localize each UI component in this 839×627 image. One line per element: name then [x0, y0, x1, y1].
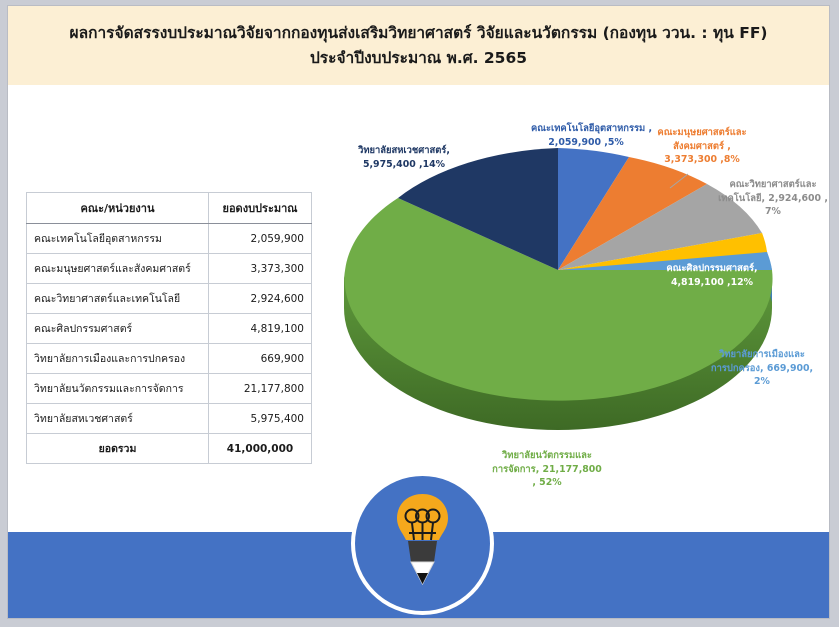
- pie-label-line1: คณะวิทยาศาสตร์และ: [714, 178, 829, 192]
- organization-logo: [355, 476, 490, 611]
- cell-amount: 21,177,800: [209, 374, 312, 404]
- cell-amount: 3,373,300: [209, 254, 312, 284]
- pie-label-line2: เทคโนโลยี, 2,924,600 ,: [714, 192, 829, 206]
- table-row: วิทยาลัยการเมืองและการปกครอง 669,900: [27, 344, 312, 374]
- table-row: คณะมนุษยศาสตร์และสังคมศาสตร์ 3,373,300: [27, 254, 312, 284]
- cell-unit-name: คณะศิลปกรรมศาสตร์: [27, 314, 209, 344]
- table-row: วิทยาลัยนวัตกรรมและการจัดการ 21,177,800: [27, 374, 312, 404]
- cell-unit-name: คณะวิทยาศาสตร์และเทคโนโลยี: [27, 284, 209, 314]
- pie-label-line1: คณะเทคโนโลยีอุตสาหกรรม ,: [531, 122, 641, 136]
- cell-total-amount: 41,000,000: [209, 434, 312, 464]
- table-row: คณะศิลปกรรมศาสตร์ 4,819,100: [27, 314, 312, 344]
- cell-unit-name: คณะเทคโนโลยีอุตสาหกรรม: [27, 224, 209, 254]
- table-row: วิทยาลัยสหเวชศาสตร์ 5,975,400: [27, 404, 312, 434]
- page-title-line2: ประจำปีงบประมาณ พ.ศ. 2565: [70, 46, 768, 70]
- table-row: คณะเทคโนโลยีอุตสาหกรรม 2,059,900: [27, 224, 312, 254]
- pie-label-line3: , 52%: [477, 476, 617, 490]
- pie-label-allied-health-sciences: วิทยาลัยสหเวชศาสตร์, 5,975,400 ,14%: [334, 144, 474, 171]
- pie-label-science-technology: คณะวิทยาศาสตร์และ เทคโนโลยี, 2,924,600 ,…: [714, 178, 829, 219]
- table-header-row: คณะ/หน่วยงาน ยอดงบประมาณ: [27, 193, 312, 224]
- pie-label-line2: สังคมศาสตร์ ,: [636, 140, 768, 154]
- table-header: คณะ/หน่วยงาน ยอดงบประมาณ: [27, 193, 312, 224]
- pie-label-humanities-social-sciences: คณะมนุษยศาสตร์และ สังคมศาสตร์ , 3,373,30…: [636, 126, 768, 167]
- budget-pie-chart: วิทยาลัยสหเวชศาสตร์, 5,975,400 ,14% คณะเ…: [326, 102, 829, 532]
- cell-unit-name: วิทยาลัยสหเวชศาสตร์: [27, 404, 209, 434]
- cell-amount: 5,975,400: [209, 404, 312, 434]
- pie-label-innovation-management: วิทยาลัยนวัตกรรมและ การจัดการ, 21,177,80…: [477, 449, 617, 490]
- pencil-ferrule: [408, 541, 437, 562]
- cell-unit-name: คณะมนุษยศาสตร์และสังคมศาสตร์: [27, 254, 209, 284]
- pie-label-line3: 2%: [700, 375, 824, 389]
- cell-amount: 4,819,100: [209, 314, 312, 344]
- cell-amount: 669,900: [209, 344, 312, 374]
- table-total-row: ยอดรวม 41,000,000: [27, 434, 312, 464]
- page-title: ผลการจัดสรรงบประมาณวิจัยจากกองทุนส่งเสริ…: [44, 21, 794, 69]
- pie-label-line3: 7%: [714, 205, 829, 219]
- column-header-amount: ยอดงบประมาณ: [209, 193, 312, 224]
- pie-label-line2: 2,059,900 ,5%: [531, 136, 641, 150]
- pie-label-line1: คณะมนุษยศาสตร์และ: [636, 126, 768, 140]
- pie-label-line2: 5,975,400 ,14%: [334, 158, 474, 172]
- pie-label-line2: การจัดการ, 21,177,800: [477, 463, 617, 477]
- page-title-line1: ผลการจัดสรรงบประมาณวิจัยจากกองทุนส่งเสริ…: [70, 21, 768, 45]
- pie-label-line2: การปกครอง, 669,900,: [700, 362, 824, 376]
- slide-canvas: ผลการจัดสรรงบประมาณวิจัยจากกองทุนส่งเสริ…: [8, 6, 829, 618]
- cell-amount: 2,924,600: [209, 284, 312, 314]
- cell-amount: 2,059,900: [209, 224, 312, 254]
- pencil-tip: [417, 573, 428, 584]
- pie-label-industrial-technology: คณะเทคโนโลยีอุตสาหกรรม , 2,059,900 ,5%: [531, 122, 641, 149]
- budget-table: คณะ/หน่วยงาน ยอดงบประมาณ คณะเทคโนโลยีอุต…: [26, 192, 312, 464]
- table-body: คณะเทคโนโลยีอุตสาหกรรม 2,059,900 คณะมนุษ…: [27, 224, 312, 464]
- pie-label-line1: วิทยาลัยการเมืองและ: [700, 348, 824, 362]
- column-header-unit: คณะ/หน่วยงาน: [27, 193, 209, 224]
- pie-label-line1: วิทยาลัยนวัตกรรมและ: [477, 449, 617, 463]
- slide-header: ผลการจัดสรรงบประมาณวิจัยจากกองทุนส่งเสริ…: [8, 6, 829, 85]
- table-row: คณะวิทยาศาสตร์และเทคโนโลยี 2,924,600: [27, 284, 312, 314]
- lightbulb-pencil-icon: [355, 476, 490, 611]
- pie-label-politics-government: วิทยาลัยการเมืองและ การปกครอง, 669,900, …: [700, 348, 824, 389]
- pie-label-line2: 4,819,100 ,12%: [651, 276, 773, 290]
- pie-label-line1: คณะศิลปกรรมศาสตร์,: [651, 262, 773, 276]
- pie-label-line3: 3,373,300 ,8%: [636, 153, 768, 167]
- cell-unit-name: วิทยาลัยการเมืองและการปกครอง: [27, 344, 209, 374]
- cell-total-label: ยอดรวม: [27, 434, 209, 464]
- cell-unit-name: วิทยาลัยนวัตกรรมและการจัดการ: [27, 374, 209, 404]
- pie-label-line1: วิทยาลัยสหเวชศาสตร์,: [334, 144, 474, 158]
- pie-label-fine-arts: คณะศิลปกรรมศาสตร์, 4,819,100 ,12%: [651, 262, 773, 289]
